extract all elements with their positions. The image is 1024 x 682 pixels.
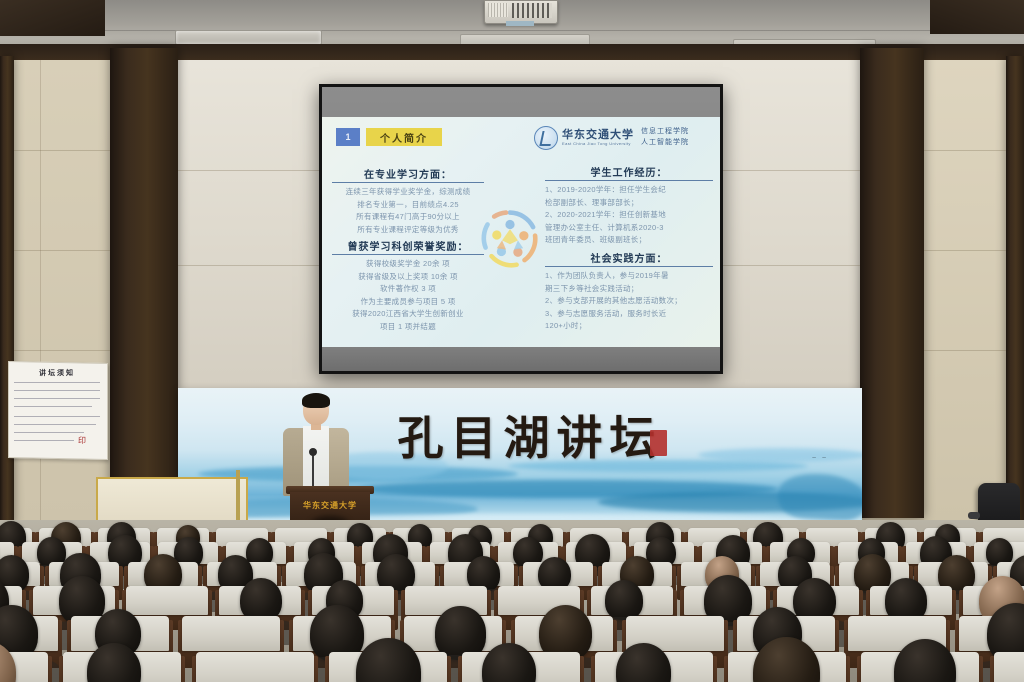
wall-seam — [14, 150, 110, 151]
wall-seam — [722, 265, 860, 266]
projector-lens — [512, 3, 552, 18]
poster-text-line — [14, 406, 92, 407]
slide-column-left-top: 在专业学习方面： 连续三年获得学业奖学金，综测成绩 排名专业第一，目前绩点4.2… — [332, 166, 484, 236]
poster-seal-icon: 印 — [78, 435, 90, 445]
wall-pillar-right — [860, 48, 924, 518]
column-line: 排名专业第一，目前绩点4.25 — [332, 199, 484, 212]
wall-seam — [924, 150, 1006, 151]
banner-birds-icon: ~ ~ — [812, 455, 852, 469]
poster-text-line — [14, 398, 100, 399]
slide-section-badge: 个人简介 — [366, 128, 442, 146]
auditorium-seat[interactable] — [196, 652, 314, 682]
column-line: 1、2019-2020学年：担任学生会纪 — [545, 184, 713, 197]
banner-title: 孔目湖讲坛 — [395, 402, 665, 468]
university-name-en: East China Jiao Tong University — [562, 141, 634, 146]
column-line: 获得2020江西省大学生创新创业 — [332, 308, 484, 321]
audience-member-head — [605, 580, 642, 620]
audience-seating — [0, 520, 1024, 682]
slide-column-right-top: 学生工作经历： 1、2019-2020学年：担任学生会纪 检部副部长、理事部部长… — [545, 164, 713, 247]
column-line: 2、参与支部开展的其他志愿活动数次； — [545, 295, 713, 308]
wall-seam — [14, 250, 110, 251]
auditorium-seat[interactable] — [126, 586, 208, 615]
ceiling-corner-left — [0, 0, 105, 36]
wall-seam — [178, 170, 320, 171]
notice-poster-title: 讲坛须知 — [20, 368, 94, 378]
wall-pillar-left — [110, 48, 178, 518]
column-line: 120+小时； — [545, 320, 713, 333]
slide-logo: 华东交通大学 East China Jiao Tong University 信… — [534, 124, 714, 152]
office-chair-arm — [968, 512, 980, 519]
column-line: 获得省级及以上奖项 10余 项 — [332, 271, 484, 284]
column-line: 期三下乡等社会实践活动； — [545, 283, 713, 296]
column-line: 所有专业课程评定等级为优秀 — [332, 224, 484, 237]
ceiling-corner-right — [930, 0, 1024, 34]
poster-text-line — [14, 424, 96, 425]
column-heading: 社会实践方面： — [545, 250, 713, 267]
microphone-icon — [309, 448, 317, 456]
column-heading: 曾获学习科创荣誉奖励： — [332, 238, 484, 255]
wall-seam — [178, 265, 320, 266]
poster-text-line — [14, 390, 100, 391]
wall-seam — [722, 170, 860, 171]
slide-column-right-bottom: 社会实践方面： 1、作为团队负责人，参与2019年暑 期三下乡等社会实践活动； … — [545, 250, 713, 333]
column-line: 检部副部长、理事部部长； — [545, 197, 713, 210]
wall-seam — [924, 250, 1006, 251]
auditorium-seat[interactable] — [182, 616, 280, 651]
column-heading: 在专业学习方面： — [332, 166, 484, 183]
banner-seal-icon — [650, 430, 667, 456]
poster-text-line — [14, 440, 74, 441]
column-line: 连续三年获得学业奖学金，综测成绩 — [332, 186, 484, 199]
column-line: 1、作为团队负责人，参与2019年暑 — [545, 270, 713, 283]
wall-pillar-far-right — [1006, 56, 1024, 526]
lecture-hall-scene: 讲坛须知 印 1 个人简介 华东交通大学 East China Jiao Ton… — [0, 0, 1024, 682]
speaker-hair — [302, 393, 330, 408]
column-line: 所有课程有47门高于90分以上 — [332, 211, 484, 224]
column-line: 管理办公室主任、计算机系2020-3 — [545, 222, 713, 235]
column-line: 作为主要成员参与项目 5 项 — [332, 296, 484, 309]
projector-vent — [488, 3, 508, 17]
column-heading: 学生工作经历： — [545, 164, 713, 181]
slide-column-left-bottom: 曾获学习科创荣誉奖励： 获得校级奖学金 20余 项 获得省级及以上奖项 10余 … — [332, 238, 484, 334]
slide-number-badge: 1 — [336, 128, 360, 146]
screen-top-band — [322, 87, 720, 117]
column-line: 软件著作权 3 项 — [332, 283, 484, 296]
column-line: 3、参与志愿服务活动，服务时长近 — [545, 308, 713, 321]
auditorium-seat[interactable] — [994, 652, 1024, 682]
speaker-shirt — [303, 426, 329, 488]
university-logo-icon — [534, 126, 558, 150]
teamwork-pinwheel-icon — [477, 202, 543, 276]
poster-text-line — [14, 382, 100, 383]
ceiling-light-left — [175, 30, 322, 45]
column-line: 获得校级奖学金 20余 项 — [332, 258, 484, 271]
poster-text-line — [14, 416, 100, 417]
column-line: 班团青年委员、班级副班长； — [545, 234, 713, 247]
microphone-stem — [312, 452, 314, 486]
university-name-cn: 华东交通大学 — [562, 130, 634, 142]
wall-seam — [14, 350, 110, 351]
projector-mount — [506, 21, 534, 26]
department-name-1: 信息工程学院 — [641, 127, 689, 138]
wall-seam — [924, 350, 1006, 351]
screen-bottom-band — [322, 347, 720, 371]
department-name-2: 人工智能学院 — [641, 138, 689, 149]
wall-panel-right — [924, 60, 1006, 520]
column-line: 项目 1 项并结题 — [332, 321, 484, 334]
ceiling-seam — [0, 30, 1024, 31]
podium-label: 华东交通大学 — [292, 500, 368, 511]
poster-text-line — [14, 432, 84, 433]
column-line: 2、2020-2021学年：担任创新基地 — [545, 209, 713, 222]
